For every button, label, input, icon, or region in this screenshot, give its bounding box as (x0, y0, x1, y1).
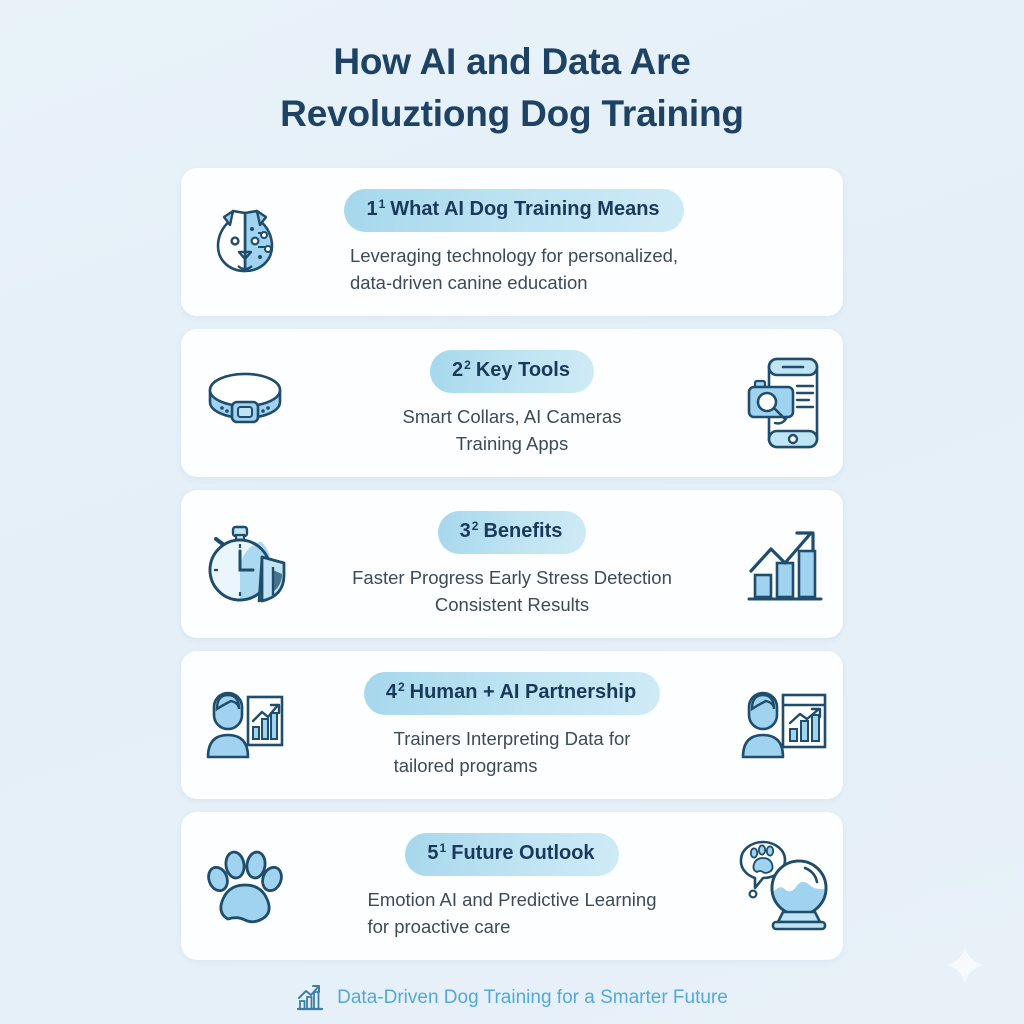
card-description-line-1: Emotion AI and Predictive Learning (368, 886, 657, 913)
card-title: Key Tools (476, 359, 570, 381)
card-badge: 51 Future Outlook (405, 833, 618, 876)
paw-print-icon (181, 812, 299, 960)
sparkle-icon (944, 944, 986, 986)
card-item[interactable]: 11 What AI Dog Training Means Leveraging… (181, 168, 843, 316)
card-badge: 11 What AI Dog Training Means (344, 189, 683, 232)
card-superscript: 2 (398, 676, 405, 698)
card-number: 1 (366, 198, 377, 220)
card-superscript: 1 (379, 193, 386, 215)
page-title-line-2: Revoluztiong Dog Training (152, 88, 872, 140)
card-body: 51 Future Outlook Emotion AI and Predict… (299, 812, 725, 960)
page-title: How AI and Data Are Revoluztiong Dog Tra… (152, 36, 872, 140)
card-description-line-1: Faster Progress Early Stress Detection (352, 564, 672, 591)
card-list: 11 What AI Dog Training Means Leveraging… (181, 168, 843, 960)
card-body: 42 Human + AI Partnership Trainers Inter… (299, 651, 725, 799)
card-description-line-2: data-driven canine education (350, 269, 678, 296)
infographic-page: How AI and Data Are Revoluztiong Dog Tra… (0, 0, 1024, 1024)
card-title: Human + AI Partnership (410, 681, 637, 703)
smart-collar-icon (181, 329, 299, 477)
card-description-line-1: Leveraging technology for personalized, (350, 242, 678, 269)
card-description: Emotion AI and Predictive Learning for p… (368, 886, 657, 940)
card-description: Faster Progress Early Stress Detection C… (352, 564, 672, 618)
card-title: What AI Dog Training Means (390, 198, 659, 220)
card-badge: 32 Benefits (438, 511, 587, 554)
card-description: Smart Collars, AI Cameras Training Apps (403, 403, 622, 457)
card-number: 5 (427, 842, 438, 864)
growth-chart-icon (296, 984, 324, 1012)
page-title-line-1: How AI and Data Are (152, 36, 872, 88)
growth-bar-chart-icon (725, 490, 843, 638)
card-superscript: 1 (440, 837, 447, 859)
card-description-line-1: Trainers Interpreting Data for (394, 725, 631, 752)
dog-ai-head-icon (181, 168, 299, 316)
stopwatch-shield-icon (181, 490, 299, 638)
card-description-line-2: Consistent Results (352, 591, 672, 618)
card-description: Trainers Interpreting Data for tailored … (394, 725, 631, 779)
footer-text: Data-Driven Dog Training for a Smarter F… (337, 987, 728, 1009)
card-item[interactable]: 22 Key Tools Smart Collars, AI Cameras T… (181, 329, 843, 477)
card-superscript: 2 (472, 515, 479, 537)
phone-camera-icon (725, 329, 843, 477)
trainer-chart-icon (181, 651, 299, 799)
card-body: 22 Key Tools Smart Collars, AI Cameras T… (299, 329, 725, 477)
card-description: Leveraging technology for personalized, … (350, 242, 678, 296)
card-title: Future Outlook (451, 842, 594, 864)
card-description-line-2: tailored programs (394, 752, 631, 779)
card-body: 11 What AI Dog Training Means Leveraging… (299, 168, 725, 316)
card-title: Benefits (483, 520, 562, 542)
trainer-dashboard-icon (725, 651, 843, 799)
card-number: 2 (452, 359, 463, 381)
card-description-line-2: for proactive care (368, 913, 657, 940)
card-description-line-1: Smart Collars, AI Cameras (403, 403, 622, 430)
card-superscript: 2 (464, 354, 471, 376)
card-item[interactable]: 51 Future Outlook Emotion AI and Predict… (181, 812, 843, 960)
card-badge: 42 Human + AI Partnership (364, 672, 660, 715)
card-item[interactable]: 42 Human + AI Partnership Trainers Inter… (181, 651, 843, 799)
card-item[interactable]: 32 Benefits Faster Progress Early Stress… (181, 490, 843, 638)
footer: Data-Driven Dog Training for a Smarter F… (296, 984, 728, 1012)
card-body: 32 Benefits Faster Progress Early Stress… (299, 490, 725, 638)
crystal-ball-paw-icon (725, 812, 843, 960)
card-description-line-2: Training Apps (403, 430, 622, 457)
card-number: 4 (386, 681, 397, 703)
card-badge: 22 Key Tools (430, 350, 594, 393)
card-number: 3 (460, 520, 471, 542)
